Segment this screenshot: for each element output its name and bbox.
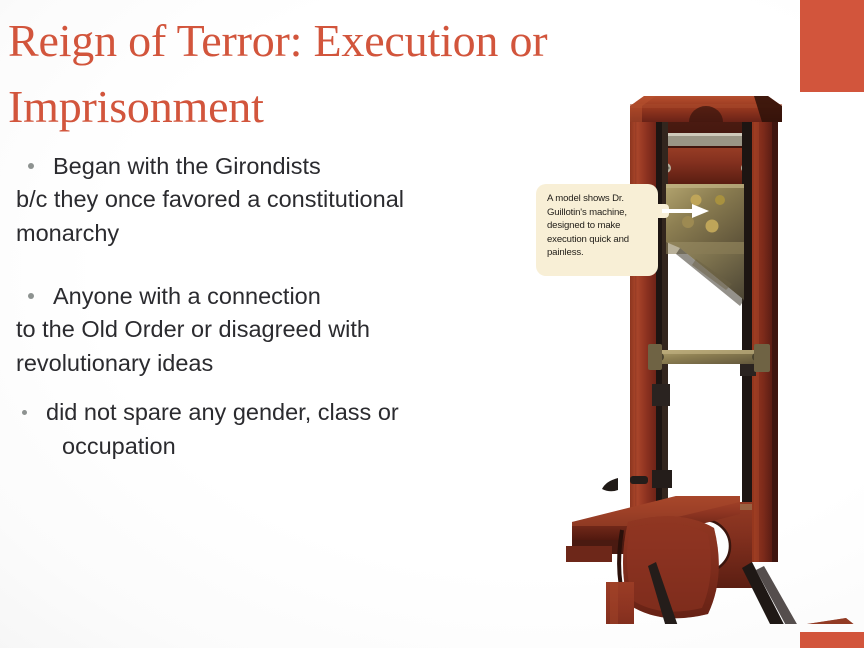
slide-canvas: Reign of Terror: Execution or Imprisonme… — [0, 0, 864, 648]
accent-bar-top-right — [800, 0, 864, 92]
text-line-bc-they: b/c they once favored a constitutional — [0, 183, 520, 216]
bullet-text: Anyone with a connection — [53, 280, 321, 313]
image-caption-callout: A model shows Dr. Guillotin's machine, d… — [536, 184, 658, 276]
accent-bar-bottom-right — [800, 632, 864, 648]
guillotine-image — [556, 84, 856, 624]
caption-pointer-arrow-icon — [662, 203, 710, 219]
bullet-text: did not spare any gender, class or — [46, 396, 399, 429]
caption-text: A model shows Dr. Guillotin's machine, d… — [547, 192, 650, 260]
body-text-line: monarchy — [16, 217, 119, 250]
text-line-monarchy: monarchy — [0, 217, 520, 250]
text-line-occupation: occupation — [0, 430, 520, 463]
text-line-revolutionary-ideas: revolutionary ideas — [0, 347, 520, 380]
body-text-line: to the Old Order or disagreed with — [16, 313, 370, 346]
text-line-old-order: to the Old Order or disagreed with — [0, 313, 520, 346]
body-text-line: occupation — [62, 430, 176, 463]
body-text-line: b/c they once favored a constitutional — [16, 183, 404, 216]
bullet-dot-icon — [22, 410, 27, 415]
bullet-line-began: Began with the Girondists — [0, 150, 520, 183]
bullet-dot-icon — [28, 293, 34, 299]
slide-body-text: Began with the Girondists b/c they once … — [0, 150, 520, 463]
bullet-line-did-not-spare: did not spare any gender, class or — [0, 396, 520, 429]
bullet-line-anyone: Anyone with a connection — [0, 280, 520, 313]
paragraph-spacer-small — [0, 380, 520, 396]
guillotine-right-post — [740, 122, 778, 562]
bullet-text: Began with the Girondists — [53, 150, 321, 183]
paragraph-spacer — [0, 250, 520, 280]
guillotine-top-beam — [630, 96, 782, 122]
bullet-dot-icon — [28, 163, 34, 169]
body-text-line: revolutionary ideas — [16, 347, 213, 380]
